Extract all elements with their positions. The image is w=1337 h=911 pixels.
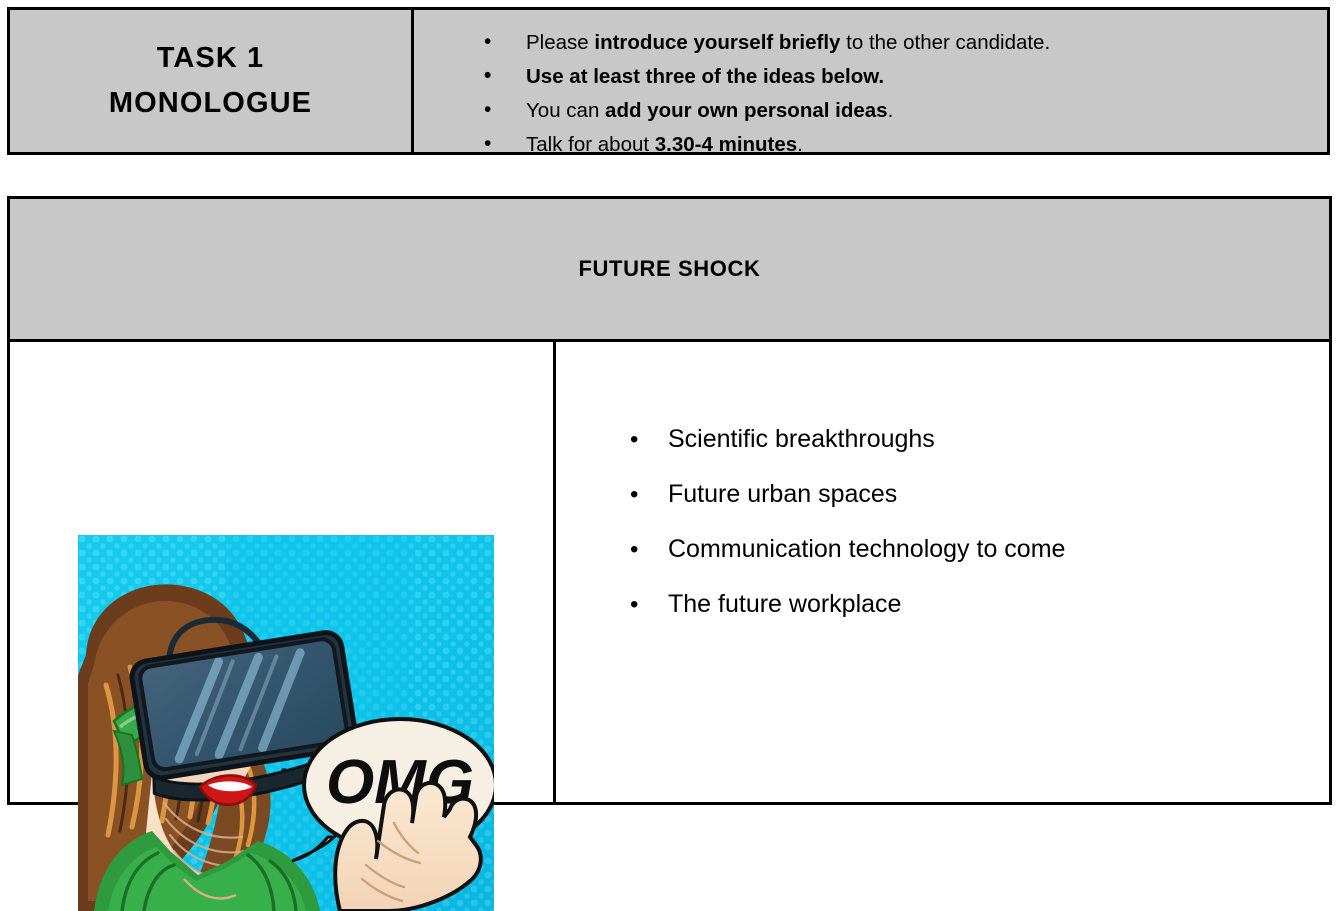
- instruction-text-plain: Talk for about: [526, 133, 655, 156]
- instruction-text-bold: Use at least three of the ideas below.: [526, 65, 884, 88]
- topic-body-row: OMG: [10, 342, 1329, 802]
- task-type-heading: MONOLOGUE: [109, 89, 312, 118]
- topic-ideas-cell: Scientific breakthroughs Future urban sp…: [556, 342, 1329, 802]
- topic-ideas-list: Scientific breakthroughs Future urban sp…: [616, 412, 1309, 632]
- task-instruction-item: Use at least three of the ideas below.: [474, 60, 1317, 94]
- topic-idea-item: The future workplace: [616, 577, 1309, 632]
- task-instruction-item: You can add your own personal ideas.: [474, 94, 1317, 128]
- task-label-cell: TASK 1 MONOLOGUE: [10, 10, 414, 152]
- pop-art-woman-vr-headset-image: OMG: [78, 535, 494, 911]
- topic-idea-item: Communication technology to come: [616, 522, 1309, 577]
- instruction-text-bold: 3.30-4 minutes: [655, 133, 797, 156]
- topic-table: FUTURE SHOCK: [7, 196, 1332, 805]
- topic-image-cell: OMG: [10, 342, 556, 802]
- task-instruction-item: Talk for about 3.30-4 minutes.: [474, 128, 1317, 162]
- instruction-text-plain: Please: [526, 31, 594, 54]
- instruction-text-bold: introduce yourself briefly: [594, 31, 840, 54]
- topic-idea-item: Future urban spaces: [616, 467, 1309, 522]
- topic-title: FUTURE SHOCK: [579, 256, 761, 282]
- instruction-text-plain: You can: [526, 99, 605, 122]
- task-instructions-cell: Please introduce yourself briefly to the…: [414, 10, 1327, 152]
- instruction-text-plain: .: [888, 99, 894, 122]
- task-instruction-item: Please introduce yourself briefly to the…: [474, 26, 1317, 60]
- task-number-heading: TASK 1: [157, 44, 265, 73]
- instruction-text-bold: add your own personal ideas: [605, 99, 888, 122]
- task-instruction-list: Please introduce yourself briefly to the…: [474, 26, 1317, 162]
- instruction-text-plain: .: [797, 133, 803, 156]
- task-instructions-table: TASK 1 MONOLOGUE Please introduce yourse…: [7, 7, 1330, 155]
- topic-header-cell: FUTURE SHOCK: [10, 199, 1329, 342]
- instruction-text-plain: to the other candidate.: [840, 31, 1050, 54]
- topic-idea-item: Scientific breakthroughs: [616, 412, 1309, 467]
